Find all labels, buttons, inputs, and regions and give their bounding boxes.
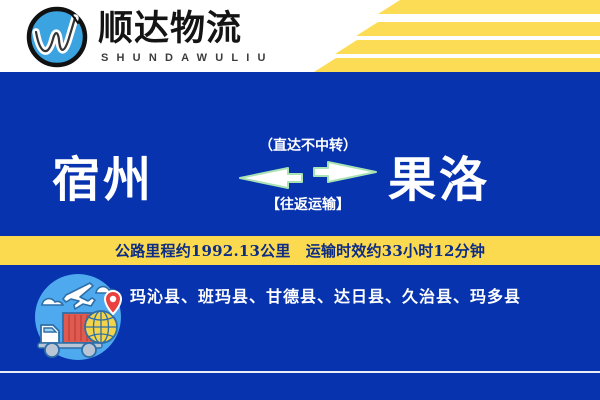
- route-row: 宿州 （直达不中转） 【往返运输】 果洛: [0, 114, 600, 236]
- coverage-strip: 玛沁县、班玛县、甘德县、达日县、久治县、玛多县: [0, 265, 600, 372]
- globe-icon: [85, 311, 117, 343]
- distance-and-duration-text: 公路里程约1992.13公里 运输时效约33小时12分钟: [115, 240, 485, 261]
- banner-body: 宿州 （直达不中转） 【往返运输】 果洛 公路里程约1992.13公里 运输时效…: [0, 72, 600, 400]
- destination-city: 果洛: [338, 114, 548, 236]
- bottom-divider: [0, 371, 600, 373]
- brand-text-group: 顺达物流 SHUNDAWULIU: [98, 9, 274, 65]
- banner-header: 顺达物流 SHUNDAWULIU: [0, 0, 600, 72]
- truck-plane-globe-illustration-icon: [26, 265, 131, 370]
- decorative-yellow-stripes: [300, 0, 600, 72]
- logistics-route-banner: 顺达物流 SHUNDAWULIU 宿州 （直达不中转）: [0, 0, 600, 400]
- brand-name-en: SHUNDAWULIU: [98, 51, 274, 65]
- brand-logo-group: 顺达物流 SHUNDAWULIU: [26, 6, 274, 68]
- brand-name-cn: 顺达物流: [98, 9, 274, 49]
- circle-swoosh-logo-icon: [26, 6, 88, 68]
- route-info-bar: 公路里程约1992.13公里 运输时效约33小时12分钟: [0, 236, 600, 265]
- county-list: 玛沁县、班玛县、甘德县、达日县、久治县、玛多县: [130, 283, 580, 307]
